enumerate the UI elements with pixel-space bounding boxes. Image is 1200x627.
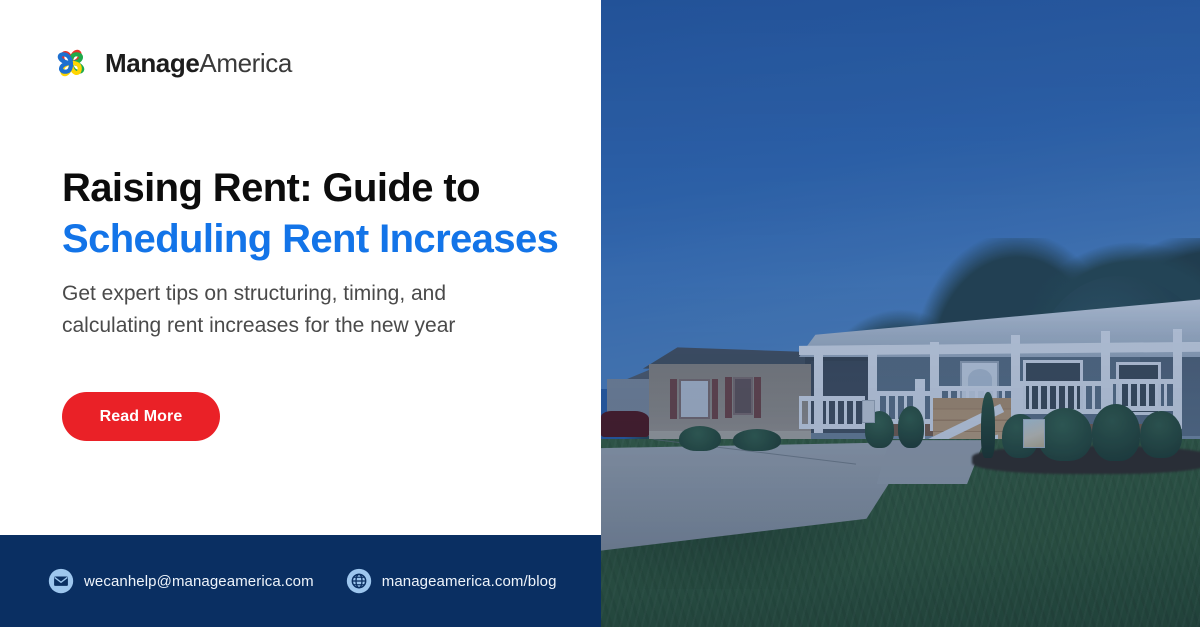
content-panel: ManageAmerica Raising Rent: Guide to Sch… — [0, 0, 601, 535]
subheadline-line-2: calculating rent increases for the new y… — [62, 310, 532, 342]
hero-photo — [601, 0, 1200, 627]
brand-name-bold: Manage — [105, 48, 199, 78]
subheadline: Get expert tips on structuring, timing, … — [62, 278, 532, 341]
website-text: manageamerica.com/blog — [382, 573, 557, 590]
blog-promo-banner: ManageAmerica Raising Rent: Guide to Sch… — [0, 0, 1200, 627]
email-text: wecanhelp@manageamerica.com — [84, 573, 314, 590]
photo-blue-wash — [601, 0, 1200, 627]
headline-line-1: Raising Rent: Guide to — [62, 163, 592, 214]
brand-name-light: America — [199, 48, 292, 78]
headline-line-2: Scheduling Rent Increases — [62, 214, 592, 265]
envelope-icon — [48, 568, 74, 594]
brand-logo[interactable]: ManageAmerica — [48, 40, 292, 86]
contact-website[interactable]: manageamerica.com/blog — [346, 568, 557, 594]
four-loop-clover-logo-icon — [48, 40, 94, 86]
footer-bar: wecanhelp@manageamerica.com manageameric… — [0, 535, 601, 627]
page-title: Raising Rent: Guide to Scheduling Rent I… — [62, 163, 592, 265]
brand-wordmark: ManageAmerica — [105, 50, 292, 76]
read-more-button[interactable]: Read More — [62, 392, 220, 441]
globe-icon — [346, 568, 372, 594]
subheadline-line-1: Get expert tips on structuring, timing, … — [62, 278, 532, 310]
contact-email[interactable]: wecanhelp@manageamerica.com — [48, 568, 314, 594]
